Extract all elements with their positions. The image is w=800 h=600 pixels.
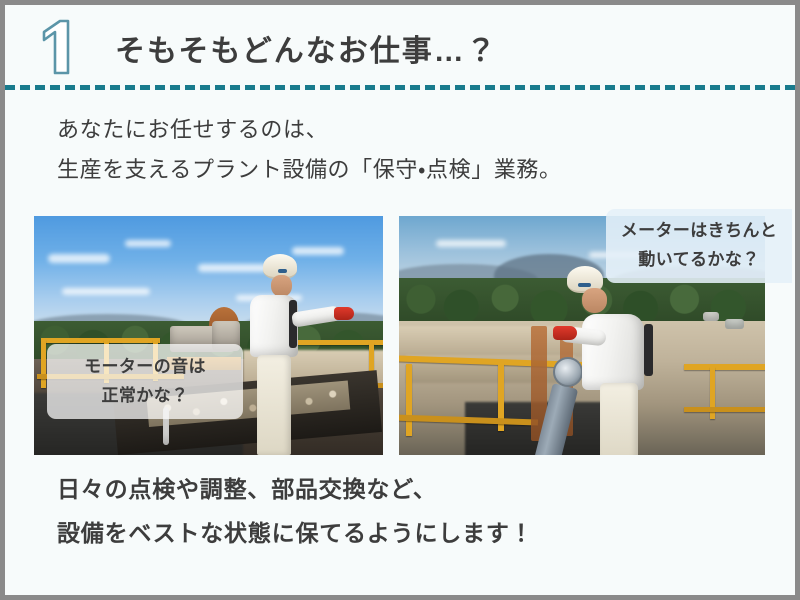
worker-pants	[257, 355, 291, 455]
lead-line-2: 生産を支えるプラント設備の「保守・点検」業務。	[57, 150, 562, 190]
photo-caption-meter: メーターはきちんと 動いてるかな？	[606, 209, 792, 283]
pressure-gauge	[553, 357, 583, 387]
worker-glove	[334, 307, 354, 320]
slide-canvas: そもそもどんなお仕事…？ あなたにお任せするのは、 生産を支えるプラント設備の「…	[5, 5, 795, 595]
slide-header: そもそもどんなお仕事…？	[5, 5, 795, 85]
section-number-badge	[34, 18, 80, 76]
cloud	[198, 264, 268, 272]
number-one-outline-icon	[34, 18, 80, 76]
outro-line-2: 設備をベストな状態に保てるようにします！	[57, 511, 533, 555]
jacket-stripe	[644, 324, 653, 376]
lead-paragraph: あなたにお任せするのは、 生産を支えるプラント設備の「保守・点検」業務。	[57, 110, 562, 190]
caption-line-2: 正常かな？	[47, 381, 243, 410]
distant-building	[703, 312, 719, 321]
helmet-logo	[278, 269, 287, 273]
photo-motor-inspection-scene	[34, 216, 383, 455]
caption-line-2: 動いてるかな？	[606, 245, 792, 274]
worker-glove-pointing	[553, 326, 577, 340]
lead-line-1: あなたにお任せするのは、	[57, 110, 562, 150]
caption-line-1: モーターの音は	[47, 352, 243, 381]
helmet-logo	[578, 283, 591, 287]
yellow-rail-post	[406, 364, 412, 436]
photo-caption-motor: モーターの音は 正常かな？	[47, 344, 243, 419]
distant-building	[725, 319, 744, 329]
worker-face	[582, 288, 607, 313]
cloud	[436, 240, 506, 247]
yellow-rail-post	[41, 340, 46, 388]
cloud	[62, 288, 150, 295]
yellow-rail	[684, 364, 765, 370]
worker-jacket	[582, 314, 644, 390]
cloud	[48, 254, 110, 263]
yellow-rail	[684, 407, 765, 412]
caption-line-1: メーターはきちんと	[606, 216, 792, 245]
outro-paragraph: 日々の点検や調整、部品交換など、 設備をベストな状態に保てるようにします！	[57, 467, 533, 555]
header-divider	[5, 85, 795, 90]
cloud	[125, 240, 171, 247]
page-title: そもそもどんなお仕事…？	[115, 26, 498, 70]
worker-pants	[600, 383, 638, 455]
worker-face	[271, 275, 292, 297]
cloud	[292, 247, 344, 255]
photo-motor-inspection: モーターの音は 正常かな？	[34, 216, 383, 455]
yellow-rail	[41, 338, 160, 343]
outro-line-1: 日々の点検や調整、部品交換など、	[57, 467, 533, 511]
